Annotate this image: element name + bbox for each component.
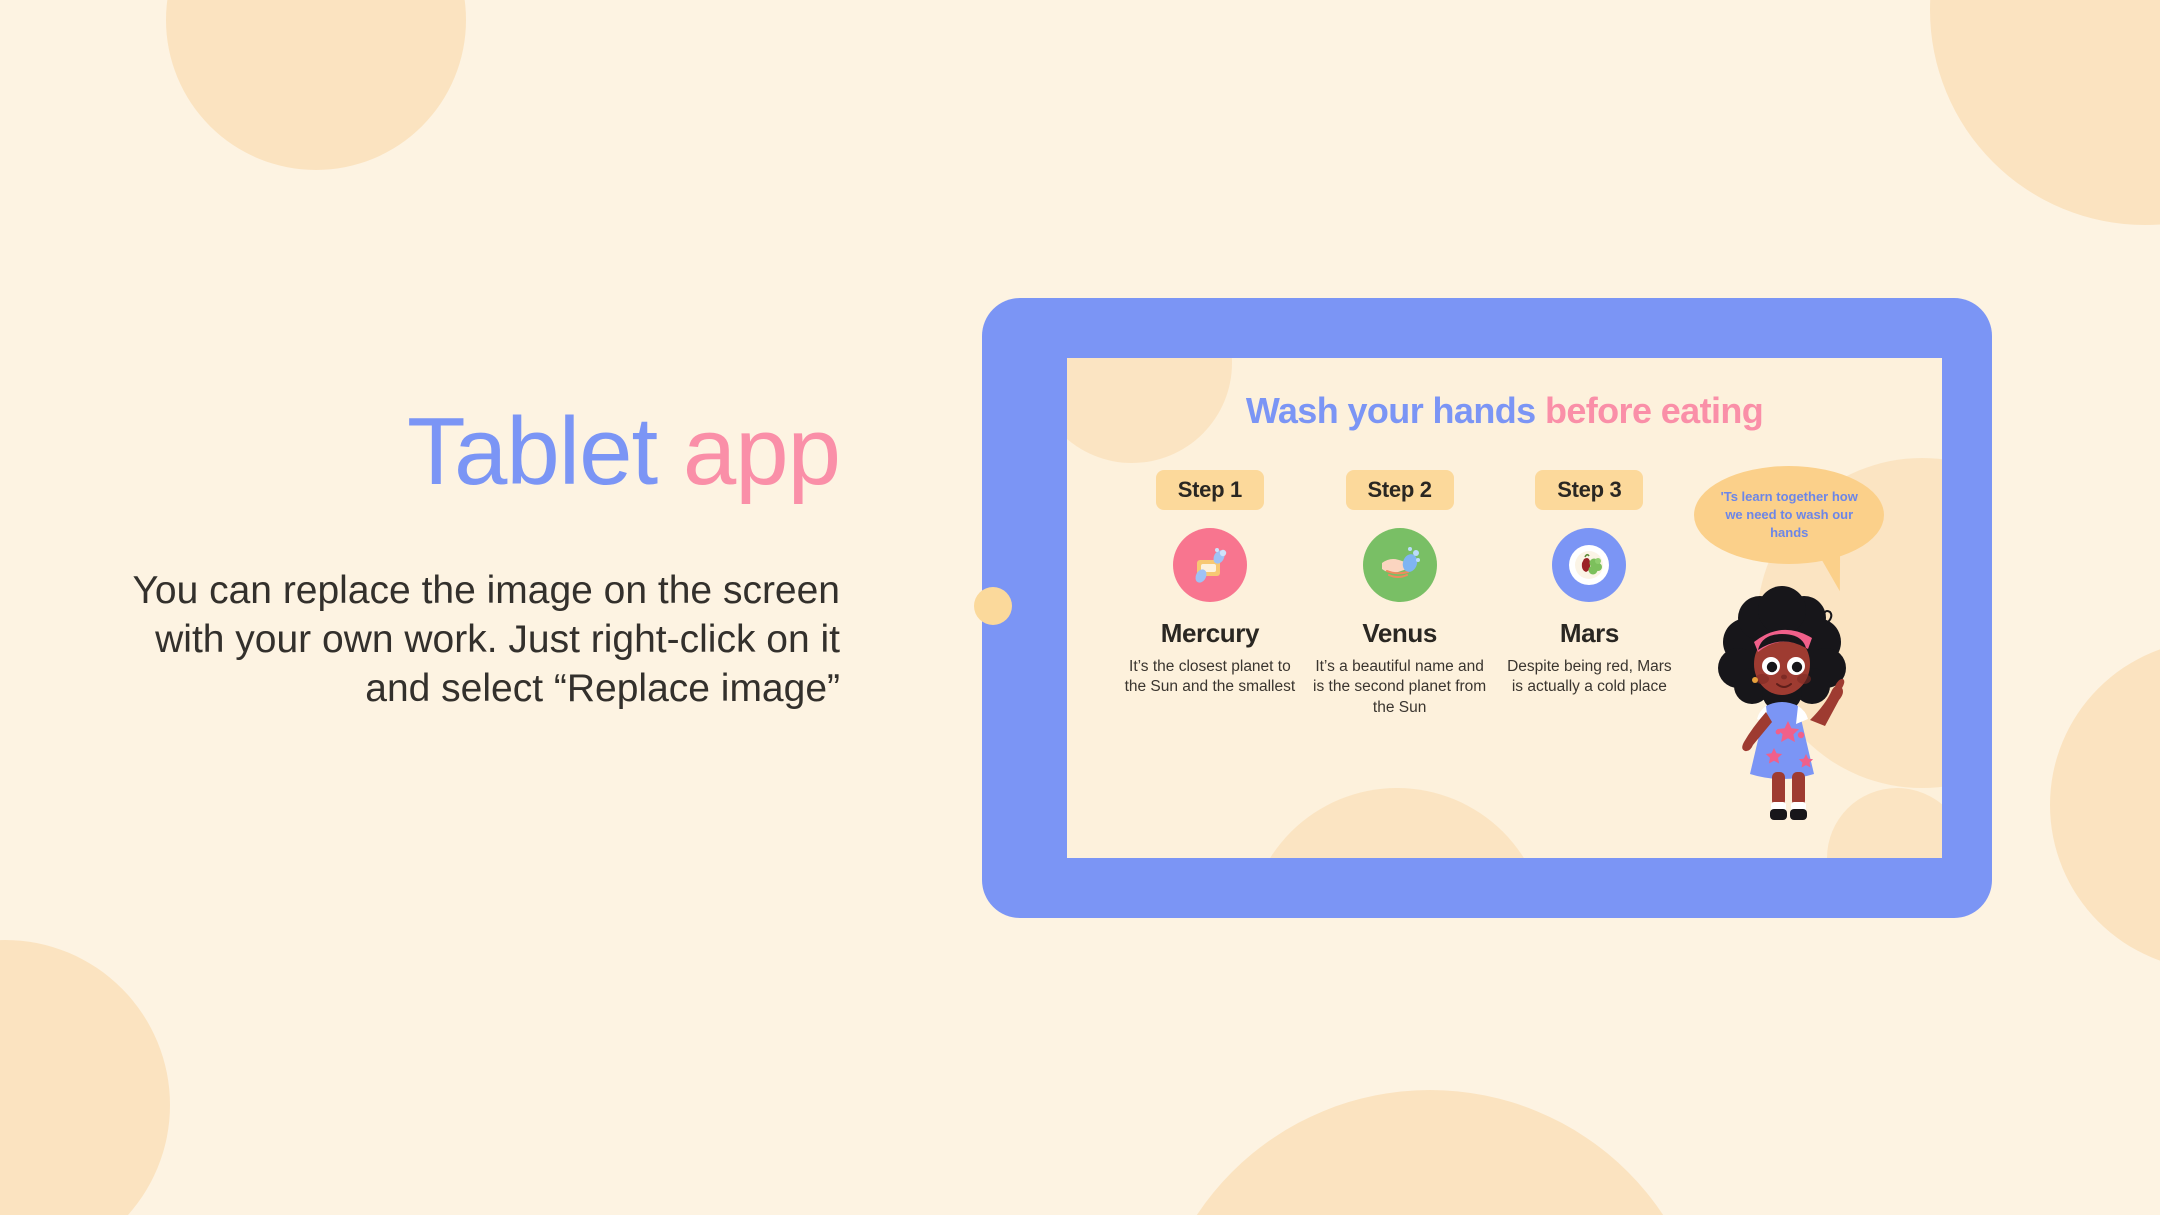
step-badge-1: Step 1 (1156, 470, 1264, 510)
screen-title: Wash your hands before eating (1067, 390, 1942, 432)
background-circle-top-left (166, 0, 466, 170)
background-circle-bottom (1150, 1090, 1710, 1215)
text-column: Tablet app You can replace the image on … (120, 400, 840, 713)
tablet-device: Wash your hands before eating Step 1 (982, 298, 1992, 918)
step-badge-3: Step 3 (1535, 470, 1643, 510)
character-column: 'Ts learn together how we need to wash o… (1684, 470, 1894, 718)
screen-title-part-2: before eating (1545, 390, 1763, 431)
girl-waving-illustration (1702, 580, 1872, 830)
body-text: You can replace the image on the screen … (120, 566, 840, 713)
background-circle-right (2050, 640, 2160, 970)
screen-title-part-1: Wash your hands (1246, 390, 1536, 431)
planet-description-3: Despite being red, Mars is actually a co… (1495, 657, 1685, 698)
speech-bubble: 'Ts learn together how we need to wash o… (1694, 466, 1884, 564)
tablet-home-button[interactable] (974, 587, 1012, 625)
planet-description-2: It’s a beautiful name and is the second … (1305, 657, 1495, 718)
step-card-2[interactable]: Step 2 Venus It’s a beautif (1305, 470, 1495, 718)
background-circle-left (0, 940, 170, 1215)
speech-bubble-text: 'Ts learn together how we need to wash o… (1694, 488, 1884, 543)
step-card-3[interactable]: Step 3 Mars (1495, 470, 1685, 718)
page-title-part-2: app (683, 398, 840, 505)
background-circle-top-right (1930, 0, 2160, 225)
washing-hands-icon (1363, 528, 1437, 602)
step-badge-2: Step 2 (1346, 470, 1454, 510)
healthy-plate-icon (1552, 528, 1626, 602)
planet-description-1: It’s the closest planet to the Sun and t… (1115, 657, 1305, 698)
tablet-screen[interactable]: Wash your hands before eating Step 1 (1067, 358, 1942, 858)
planet-name-3: Mars (1495, 618, 1685, 649)
steps-row: Step 1 Mercury It’s the closest planet t… (1067, 470, 1942, 718)
planet-name-2: Venus (1305, 618, 1495, 649)
page-title-part-1: Tablet (407, 398, 657, 505)
page-title: Tablet app (120, 400, 840, 504)
step-card-1[interactable]: Step 1 Mercury It’s the closest planet t… (1115, 470, 1305, 718)
soap-bar-icon (1173, 528, 1247, 602)
planet-name-1: Mercury (1115, 618, 1305, 649)
